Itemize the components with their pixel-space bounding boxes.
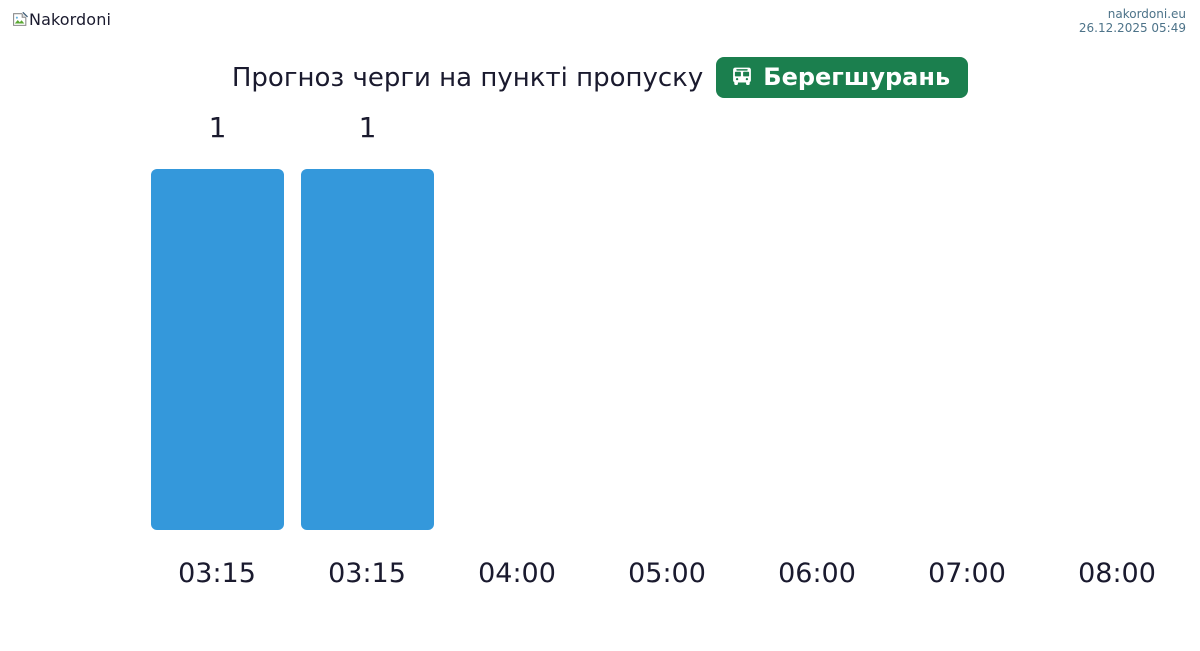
x-axis-label: 04:00 <box>442 557 592 591</box>
bar-rect[interactable] <box>151 169 284 530</box>
bar-value-label: 1 <box>151 113 284 143</box>
x-axis-label: 03:15 <box>142 557 292 591</box>
x-axis-label: 07:00 <box>892 557 1042 591</box>
bar-value-label: 1 <box>301 113 434 143</box>
queue-forecast-chart: 1 1 03:15 03:15 04:00 05:00 06:00 07:00 … <box>0 0 1200 651</box>
bar-rect[interactable] <box>301 169 434 530</box>
bar-column[interactable]: 1 <box>301 169 434 530</box>
x-axis-label: 03:15 <box>292 557 442 591</box>
bar-column[interactable]: 1 <box>151 169 284 530</box>
x-axis-label: 06:00 <box>742 557 892 591</box>
x-axis-label: 05:00 <box>592 557 742 591</box>
x-axis-label: 08:00 <box>1042 557 1192 591</box>
